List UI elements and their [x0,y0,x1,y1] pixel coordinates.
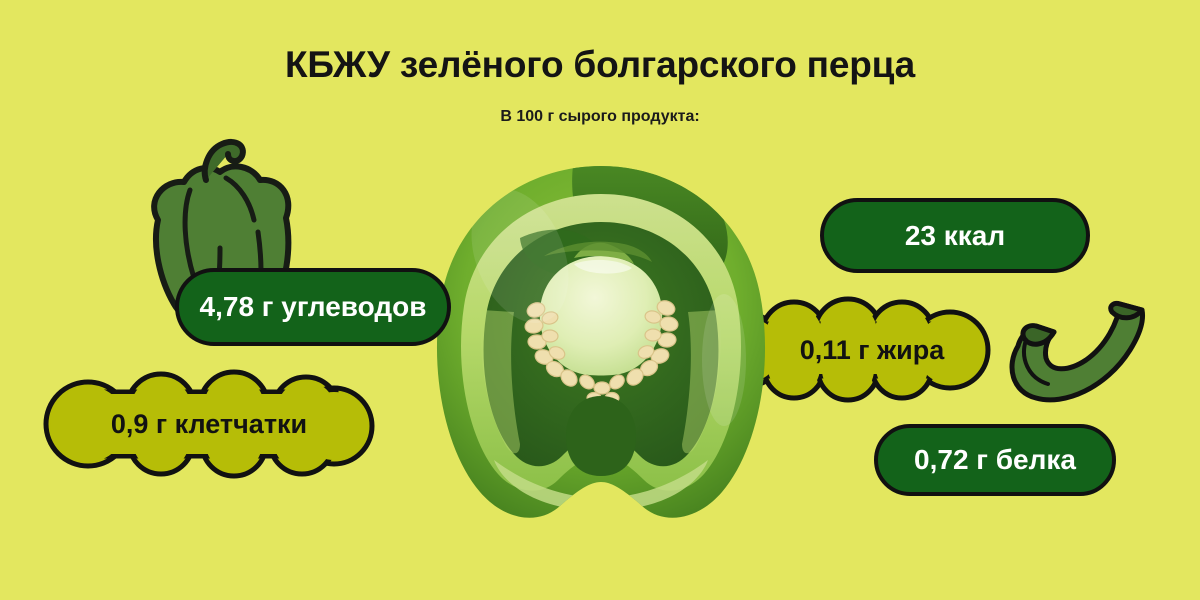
halved-green-bell-pepper-photo [424,160,778,530]
infographic-canvas: КБЖУ зелёного болгарского перца В 100 г … [0,0,1200,600]
page-title: КБЖУ зелёного болгарского перца [0,44,1200,86]
page-subtitle: В 100 г сырого продукта: [0,108,1200,126]
callout-protein-label: 0,72 г белка [914,444,1076,476]
callout-carbohydrates-label: 4,78 г углеводов [200,291,427,323]
callout-protein[interactable]: 0,72 г белка [874,424,1116,496]
pepper-slice-illustration-icon [1002,296,1162,426]
callout-fiber[interactable]: 0,9 г клетчатки [44,372,374,476]
callout-calories-label: 23 ккал [905,220,1005,252]
callout-carbohydrates[interactable]: 4,78 г углеводов [175,268,451,346]
callout-calories[interactable]: 23 ккал [820,198,1090,273]
